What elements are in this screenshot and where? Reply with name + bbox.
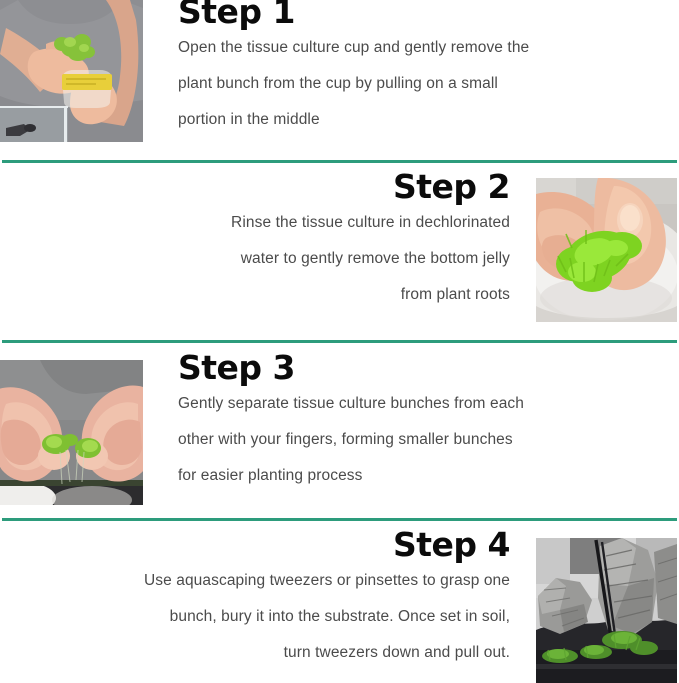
step-1-section: Step 1 Open the tissue culture cup and g…: [0, 0, 679, 160]
step-2-body-line-2: water to gently remove the bottom jelly: [30, 241, 510, 277]
step-4-title: Step 4: [30, 527, 510, 563]
step-1-title: Step 1: [178, 0, 648, 30]
step-2-photo: [536, 178, 677, 322]
step-1-body-line-1: Open the tissue culture cup and gently r…: [178, 30, 648, 66]
step-3-photo-art: [0, 360, 143, 505]
step-1-photo: [0, 0, 143, 142]
step-3-section: Step 3 Gently separate tissue culture bu…: [0, 343, 679, 518]
step-1-text-column: Step 1 Open the tissue culture cup and g…: [178, 0, 648, 138]
step-3-text-column: Step 3 Gently separate tissue culture bu…: [178, 350, 648, 494]
step-2-photo-art: [536, 178, 677, 322]
step-4-photo-art: [536, 538, 677, 683]
step-2-body: Rinse the tissue culture in dechlorinate…: [30, 205, 510, 313]
step-3-body-line-2: other with your fingers, forming smaller…: [178, 422, 648, 458]
step-2-body-line-3: from plant roots: [30, 277, 510, 313]
step-2-body-line-1: Rinse the tissue culture in dechlorinate…: [30, 205, 510, 241]
step-1-body-line-2: plant bunch from the cup by pulling on a…: [178, 66, 648, 102]
step-3-body: Gently separate tissue culture bunches f…: [178, 386, 648, 494]
step-1-body: Open the tissue culture cup and gently r…: [178, 30, 648, 138]
step-3-body-line-3: for easier planting process: [178, 458, 648, 494]
step-4-body-line-2: bunch, bury it into the substrate. Once …: [30, 599, 510, 635]
step-1-photo-art: [0, 0, 143, 142]
step-4-section: Step 4 Use aquascaping tweezers or pinse…: [0, 521, 679, 683]
step-3-photo: [0, 360, 143, 505]
step-4-text-column: Step 4 Use aquascaping tweezers or pinse…: [30, 527, 510, 671]
step-2-section: Step 2 Rinse the tissue culture in dechl…: [0, 163, 679, 340]
instruction-guide: Step 1 Open the tissue culture cup and g…: [0, 0, 679, 683]
step-4-photo: [536, 538, 677, 683]
step-2-text-column: Step 2 Rinse the tissue culture in dechl…: [30, 169, 510, 313]
step-1-body-line-3: portion in the middle: [178, 102, 648, 138]
step-3-title: Step 3: [178, 350, 648, 386]
step-4-body-line-1: Use aquascaping tweezers or pinsettes to…: [30, 563, 510, 599]
step-4-body: Use aquascaping tweezers or pinsettes to…: [30, 563, 510, 671]
step-2-title: Step 2: [30, 169, 510, 205]
step-4-body-line-3: turn tweezers down and pull out.: [30, 635, 510, 671]
step-3-body-line-1: Gently separate tissue culture bunches f…: [178, 386, 648, 422]
